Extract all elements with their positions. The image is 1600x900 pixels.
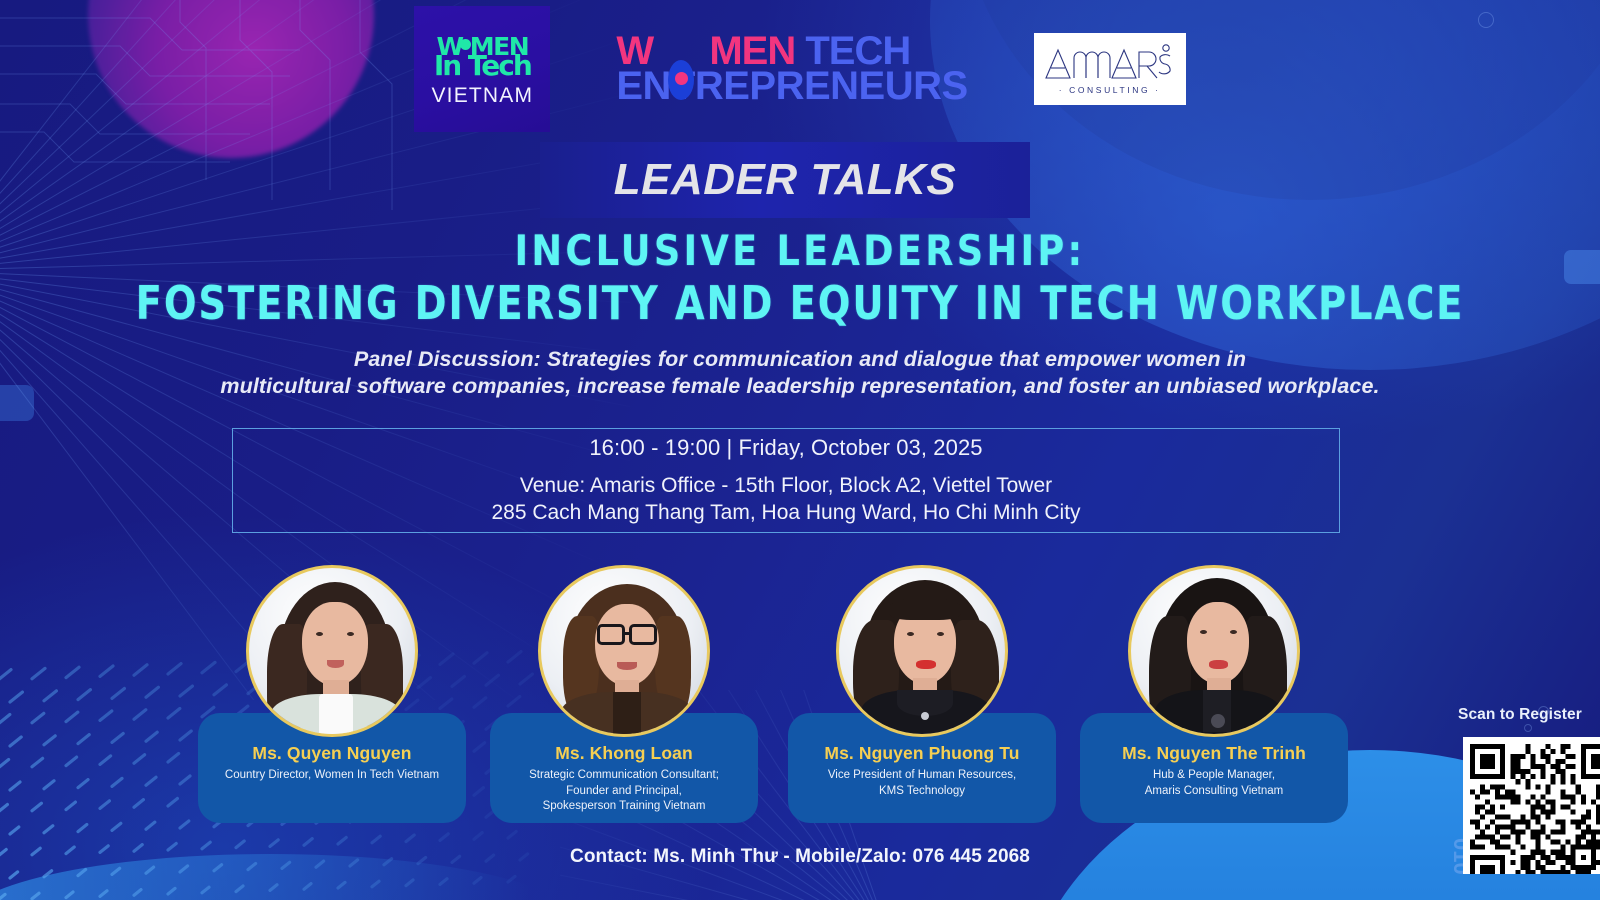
leader-talks-label: LEADER TALKS — [540, 142, 1030, 218]
speaker-role: Hub & People Manager, Amaris Consulting … — [1137, 768, 1292, 799]
speaker-list: Ms. Quyen Nguyen Country Director, Women… — [0, 565, 1600, 840]
portrait-nguyen-phuong-tu — [839, 568, 1005, 734]
avatar — [538, 565, 710, 737]
logo-amaris-wordmark — [1044, 44, 1176, 84]
page-title: INCLUSIVE LEADERSHIP: FOSTERING DIVERSIT… — [0, 228, 1600, 329]
contact-line: Contact: Ms. Minh Thư - Mobile/Zalo: 076… — [0, 846, 1600, 868]
logo-amaris-subtitle: · CONSULTING · — [1059, 85, 1161, 95]
logo-wit-line1-text: W MEN — [436, 32, 528, 61]
speaker-name: Ms. Quyen Nguyen — [252, 743, 411, 764]
headline-line1: INCLUSIVE LEADERSHIP: — [24, 228, 1576, 273]
page-subtitle: Panel Discussion: Strategies for communi… — [40, 346, 1560, 400]
event-datetime: 16:00 - 19:00 | Friday, October 03, 2025 — [589, 435, 982, 461]
logo-women-in-tech-vietnam: W MEN In Tech VIETNAM — [414, 6, 550, 132]
portrait-khong-loan — [541, 568, 707, 734]
avatar — [836, 565, 1008, 737]
logo-wit-line1: W MEN — [436, 36, 528, 57]
speaker-role: Country Director, Women In Tech Vietnam — [217, 768, 447, 784]
sponsor-logo-row: W MEN In Tech VIETNAM W MEN TECH ENTREPR… — [0, 4, 1600, 134]
speaker-name: Ms. Nguyen Phuong Tu — [824, 743, 1019, 764]
speaker-role: Strategic Communication Consultant; Foun… — [521, 768, 727, 815]
event-venue-line1: Venue: Amaris Office - 15th Floor, Block… — [520, 473, 1052, 499]
portrait-nguyen-the-trinh — [1131, 568, 1297, 734]
headline-line2: FOSTERING DIVERSITY AND EQUITY IN TECH W… — [56, 279, 1544, 329]
event-poster: W MEN In Tech VIETNAM W MEN TECH ENTREPR… — [0, 0, 1600, 900]
speaker-name: Ms. Khong Loan — [555, 743, 693, 764]
portrait-quyen-nguyen — [249, 568, 415, 734]
logo-women-tech-entrepreneurs: W MEN TECH ENTREPRENEURS — [616, 34, 967, 104]
avatar — [1128, 565, 1300, 737]
event-venue-line2: 285 Cach Mang Thang Tam, Hoa Hung Ward, … — [491, 500, 1080, 526]
logo-amaris-consulting: · CONSULTING · — [1034, 33, 1186, 105]
subtitle-line1: Panel Discussion: Strategies for communi… — [354, 347, 1246, 371]
avatar — [246, 565, 418, 737]
speaker-name: Ms. Nguyen The Trinh — [1122, 743, 1306, 764]
speaker-role: Vice President of Human Resources, KMS T… — [820, 768, 1024, 799]
event-details-box: 16:00 - 19:00 | Friday, October 03, 2025… — [232, 428, 1340, 533]
scan-to-register-label: Scan to Register — [1458, 706, 1600, 724]
logo-wit-line3-text: VIETNAM — [431, 84, 533, 108]
subtitle-line2: multicultural software companies, increa… — [220, 374, 1379, 398]
